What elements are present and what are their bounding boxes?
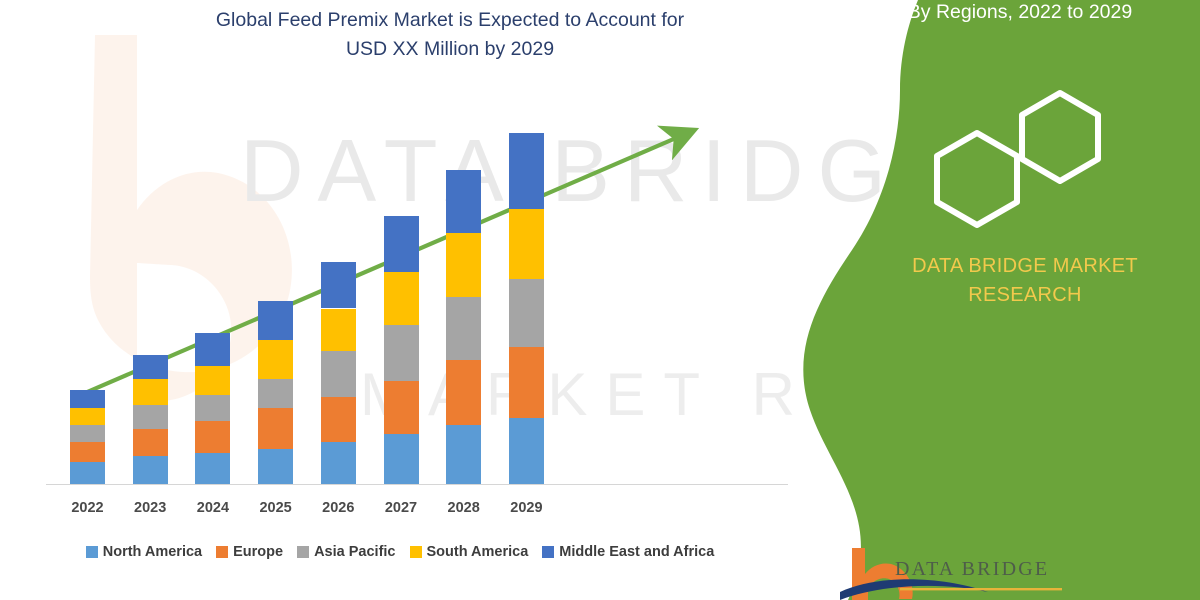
bar-segment — [258, 301, 293, 340]
bar-segment — [258, 379, 293, 409]
bar-2027 — [384, 216, 419, 484]
bar-segment — [509, 347, 544, 417]
bar-segment — [258, 408, 293, 449]
bar-segment — [509, 133, 544, 209]
bar-segment — [384, 434, 419, 484]
legend-item-0[interactable]: North America — [86, 544, 202, 560]
bar-2022 — [70, 390, 105, 484]
bar-2025 — [258, 301, 293, 484]
bar-segment — [258, 449, 293, 484]
bar-segment — [70, 408, 105, 425]
legend-swatch-icon — [297, 546, 309, 558]
bar-segment — [446, 170, 481, 233]
legend-label: Asia Pacific — [314, 544, 395, 560]
bar-segment — [70, 425, 105, 442]
bar-segment — [321, 397, 356, 441]
bar-segment — [321, 442, 356, 484]
legend-label: North America — [103, 544, 202, 560]
panel-subtitle: By Regions, 2022 to 2029 — [840, 0, 1200, 27]
bar-segment — [195, 421, 230, 452]
bar-segment — [384, 325, 419, 380]
bar-2029 — [509, 133, 544, 484]
x-axis-label-2024: 2024 — [183, 500, 243, 516]
brand-line-2: RESEARCH — [968, 284, 1082, 306]
x-axis-label-2026: 2026 — [308, 500, 368, 516]
brand-line-1: DATA BRIDGE MARKET — [912, 255, 1138, 277]
x-axis-label-2023: 2023 — [120, 500, 180, 516]
logo-wordmark: DATA BRIDGE — [895, 558, 1049, 581]
x-axis-line — [46, 484, 788, 485]
bar-segment — [321, 262, 356, 308]
legend-item-4[interactable]: Middle East and Africa — [542, 544, 714, 560]
infographic-canvas: DATA BRIDGE MARKET RESEARCH Global Feed … — [0, 0, 1200, 600]
bar-segment — [446, 297, 481, 360]
legend-swatch-icon — [86, 546, 98, 558]
title-line-2: USD XX Million by 2029 — [346, 38, 554, 60]
bar-segment — [384, 381, 419, 435]
bar-segment — [384, 216, 419, 271]
legend-label: Europe — [233, 544, 283, 560]
bar-segment — [384, 272, 419, 326]
bar-segment — [195, 333, 230, 366]
title-line-1: Global Feed Premix Market is Expected to… — [216, 9, 684, 31]
legend-item-3[interactable]: South America — [410, 544, 529, 560]
bar-2024 — [195, 333, 230, 484]
hexagon-pair-icon — [905, 88, 1135, 228]
bar-segment — [321, 309, 356, 351]
x-axis-label-2029: 2029 — [496, 500, 556, 516]
page-title: Global Feed Premix Market is Expected to… — [120, 6, 780, 64]
bar-segment — [133, 456, 168, 484]
bar-segment — [446, 425, 481, 484]
brand-name: DATA BRIDGE MARKET RESEARCH — [880, 252, 1170, 310]
bar-segment — [258, 340, 293, 379]
bar-segment — [446, 233, 481, 298]
chart-legend: North AmericaEuropeAsia PacificSouth Ame… — [0, 540, 800, 564]
bar-2023 — [133, 355, 168, 484]
bar-segment — [321, 351, 356, 397]
x-axis-label-2028: 2028 — [434, 500, 494, 516]
x-axis-label-2025: 2025 — [246, 500, 306, 516]
bar-segment — [133, 429, 168, 457]
legend-item-1[interactable]: Europe — [216, 544, 283, 560]
legend-swatch-icon — [410, 546, 422, 558]
legend-swatch-icon — [542, 546, 554, 558]
bar-segment — [70, 442, 105, 462]
bar-segment — [133, 405, 168, 429]
bar-segment — [70, 390, 105, 408]
bar-segment — [133, 379, 168, 405]
legend-swatch-icon — [216, 546, 228, 558]
x-axis-label-2027: 2027 — [371, 500, 431, 516]
bar-segment — [509, 209, 544, 279]
legend-item-2[interactable]: Asia Pacific — [297, 544, 395, 560]
bar-segment — [133, 355, 168, 379]
bar-segment — [195, 453, 230, 484]
legend-label: South America — [427, 544, 529, 560]
bar-segment — [195, 366, 230, 396]
panel-subtitle-text: By Regions, 2022 to 2029 — [840, 0, 1200, 27]
bar-segment — [446, 360, 481, 425]
bar-segment — [509, 279, 544, 347]
bar-2028 — [446, 170, 481, 484]
bar-segment — [195, 395, 230, 421]
bar-segment — [509, 418, 544, 485]
bar-2026 — [321, 262, 356, 484]
bar-segment — [70, 462, 105, 484]
x-axis-label-2022: 2022 — [58, 500, 118, 516]
legend-label: Middle East and Africa — [559, 544, 714, 560]
stacked-bar-chart: 20222023202420252026202720282029 — [0, 0, 800, 600]
